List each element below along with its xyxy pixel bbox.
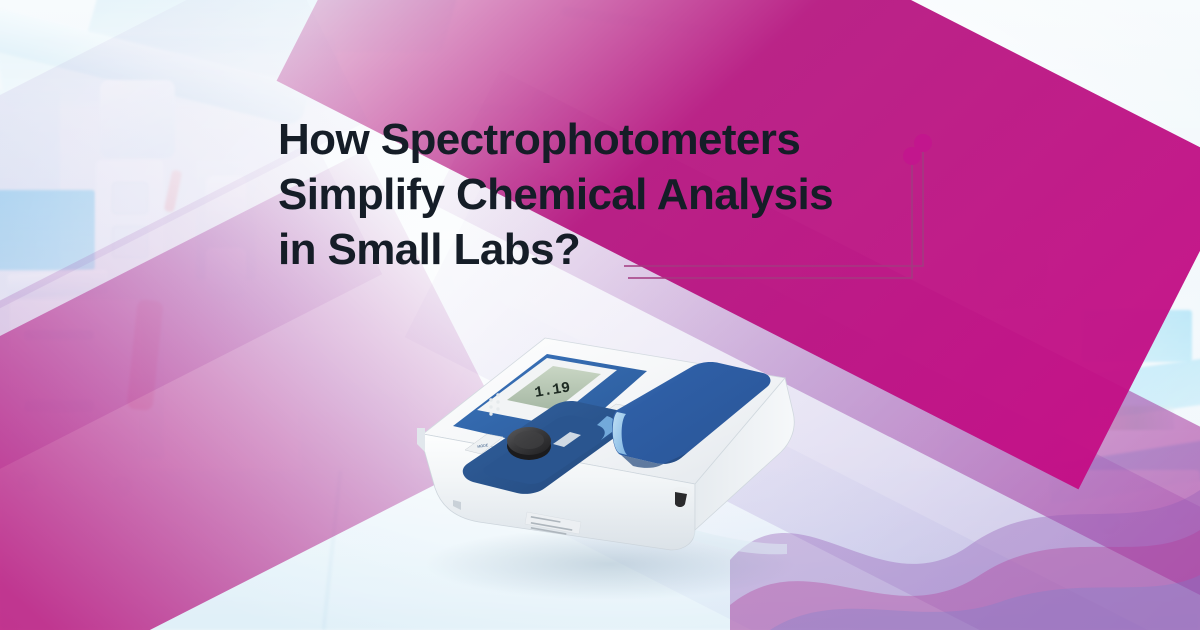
spectrophotometer-image: 1.19 UV-VIS SPECTROPHOTOMETER MODE PRINT <box>395 316 815 616</box>
page-title-line-1: How Spectrophotometers <box>278 112 918 167</box>
device-left-tab <box>417 428 425 452</box>
blog-banner: How Spectrophotometers Simplify Chemical… <box>0 0 1200 630</box>
spectrophotometer-illustration: 1.19 UV-VIS SPECTROPHOTOMETER MODE PRINT <box>395 316 815 616</box>
page-title-line-2: Simplify Chemical Analysis <box>278 167 918 222</box>
sample-knob-top <box>514 431 544 449</box>
page-title: How Spectrophotometers Simplify Chemical… <box>278 112 918 277</box>
page-title-line-3: in Small Labs? <box>278 222 918 277</box>
